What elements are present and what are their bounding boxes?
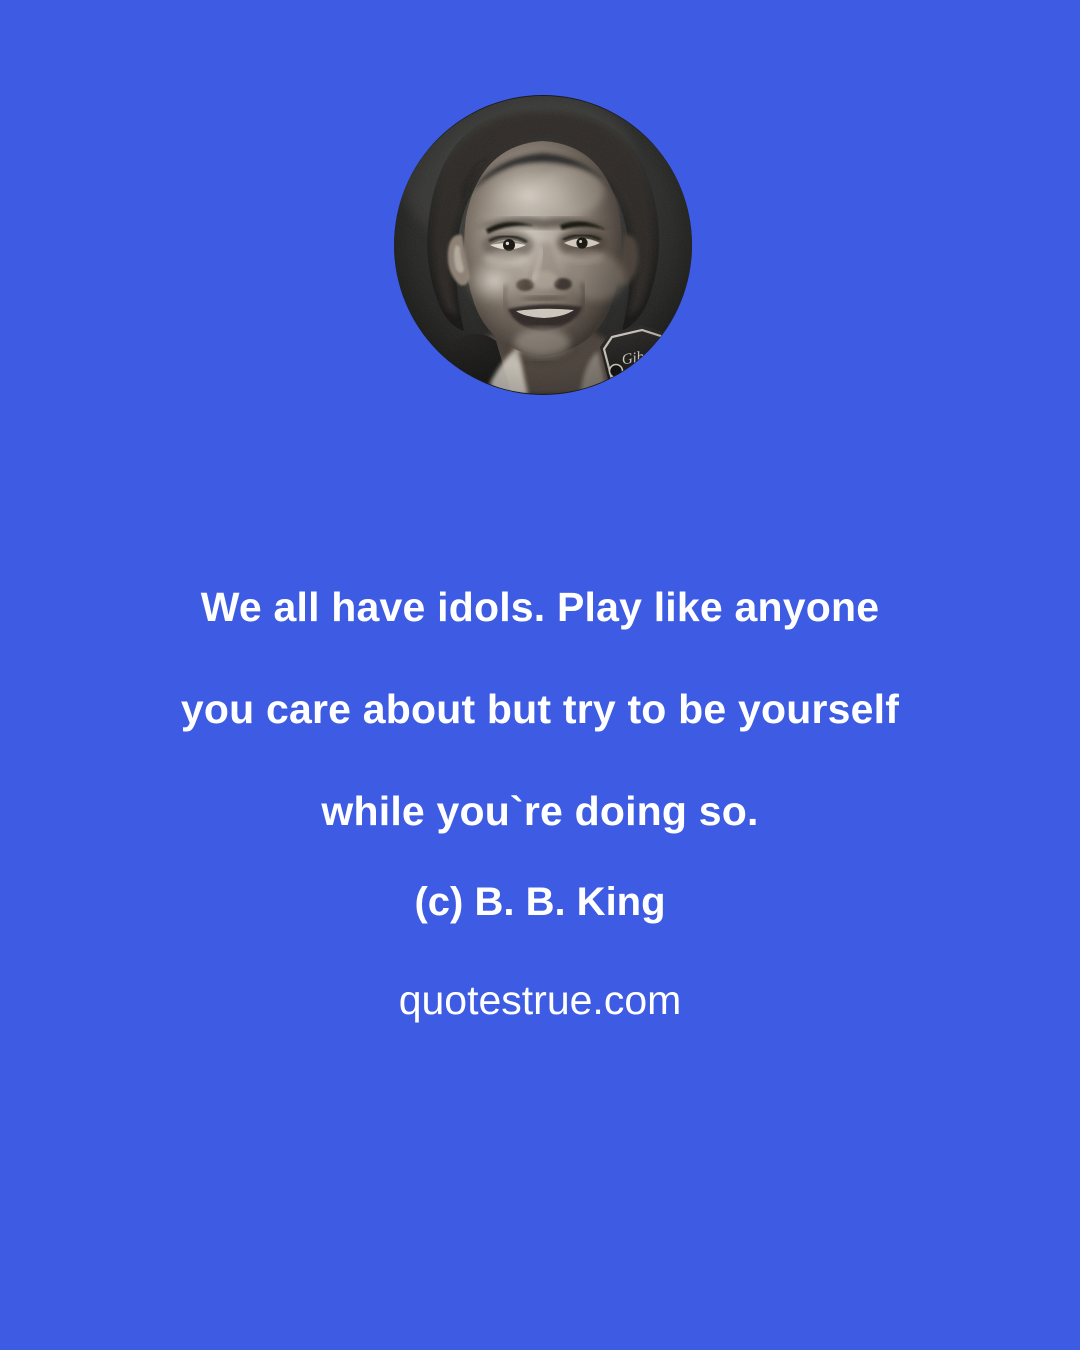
quote-card: Gibson <box>0 0 1080 1350</box>
portrait-container: Gibson <box>394 95 692 395</box>
source-website: quotestrue.com <box>0 972 1080 1028</box>
quote-text: We all have idols. Play like anyone you … <box>0 556 1080 862</box>
portrait-illustration: Gibson <box>394 95 692 395</box>
quote-attribution: (c) B. B. King <box>0 874 1080 930</box>
quote-line-3: while you`re doing so. <box>0 760 1080 862</box>
b-b-king-portrait: Gibson <box>394 95 692 395</box>
quote-line-1: We all have idols. Play like anyone <box>0 556 1080 658</box>
quote-line-2: you care about but try to be yourself <box>0 658 1080 760</box>
